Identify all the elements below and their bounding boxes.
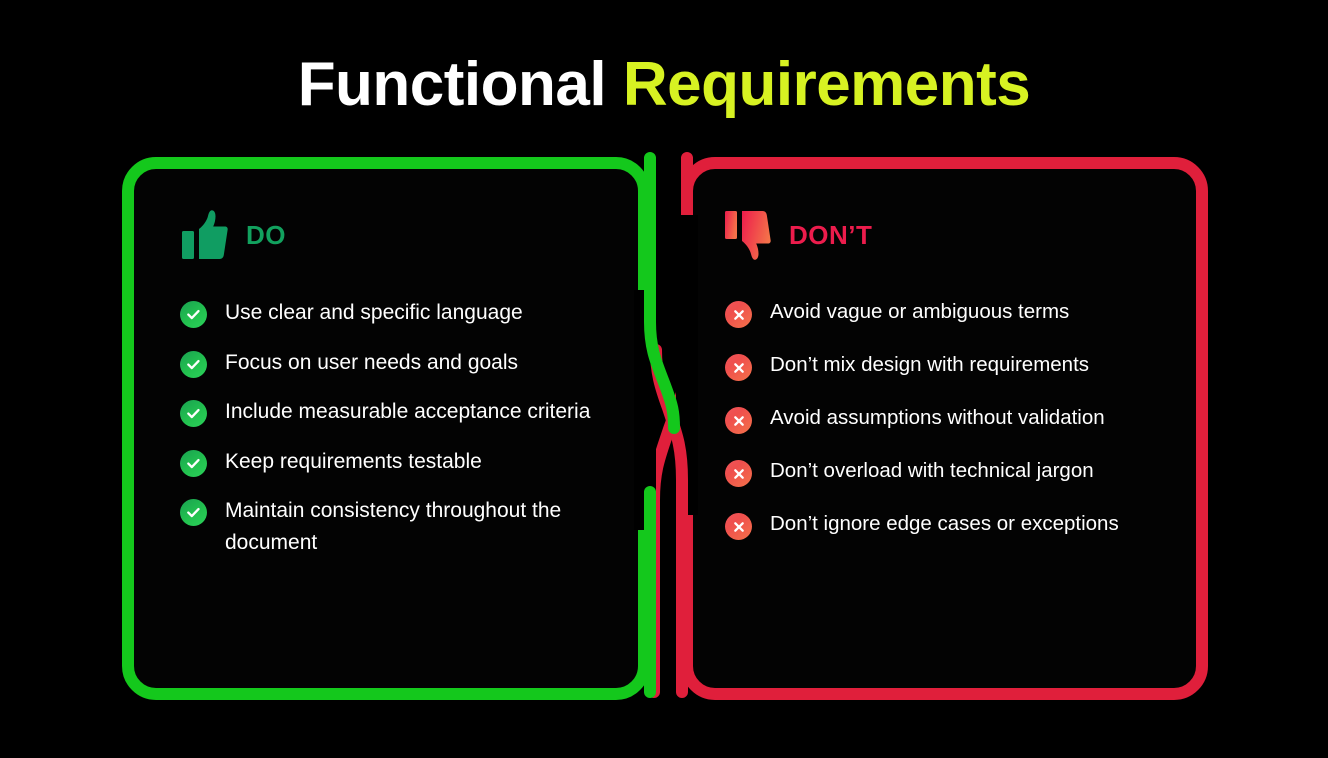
x-circle-icon [725,301,752,328]
check-circle-icon [180,450,207,477]
thumbs-down-icon [725,209,771,261]
list-item: Avoid assumptions without validation [725,403,1178,434]
do-card: DO Use clear and specific language Focus… [122,157,650,700]
list-item: Avoid vague or ambiguous terms [725,297,1178,328]
list-item: Don’t mix design with requirements [725,350,1178,381]
do-card-header: DO [182,209,286,261]
weave-mask-left [634,290,656,530]
weave-mask-right [676,215,698,515]
list-item-text: Maintain consistency throughout the docu… [225,495,610,558]
page-title-part-1: Functional [298,50,623,119]
do-card-heading: DO [246,220,286,251]
list-item-text: Don’t overload with technical jargon [770,456,1094,487]
list-item-text: Avoid vague or ambiguous terms [770,297,1069,328]
list-item: Don’t ignore edge cases or exceptions [725,509,1178,540]
list-item-text: Use clear and specific language [225,297,523,329]
dont-list: Avoid vague or ambiguous terms Don’t mix… [725,297,1178,562]
x-circle-icon [725,513,752,540]
dont-card-heading: DON’T [789,220,872,251]
page-title: Functional Requirements [0,52,1328,117]
list-item-text: Focus on user needs and goals [225,347,518,379]
thumbs-up-icon [182,209,228,261]
dont-card: DON’T Avoid vague or ambiguous terms Don… [681,157,1208,700]
list-item-text: Keep requirements testable [225,446,482,478]
check-circle-icon [180,400,207,427]
page-title-part-2: Requirements [623,50,1030,119]
list-item-text: Avoid assumptions without validation [770,403,1105,434]
list-item-text: Don’t ignore edge cases or exceptions [770,509,1119,540]
do-list: Use clear and specific language Focus on… [180,297,610,576]
check-circle-icon [180,499,207,526]
list-item-text: Don’t mix design with requirements [770,350,1089,381]
list-item: Focus on user needs and goals [180,347,610,379]
list-item: Maintain consistency throughout the docu… [180,495,610,558]
x-circle-icon [725,407,752,434]
list-item: Include measurable acceptance criteria [180,396,610,428]
x-circle-icon [725,460,752,487]
list-item: Keep requirements testable [180,446,610,478]
check-circle-icon [180,301,207,328]
x-circle-icon [725,354,752,381]
list-item-text: Include measurable acceptance criteria [225,396,590,428]
infographic-canvas: Functional Requirements DO Use clear and… [0,0,1328,758]
list-item: Don’t overload with technical jargon [725,456,1178,487]
dont-card-header: DON’T [725,209,872,261]
check-circle-icon [180,351,207,378]
list-item: Use clear and specific language [180,297,610,329]
